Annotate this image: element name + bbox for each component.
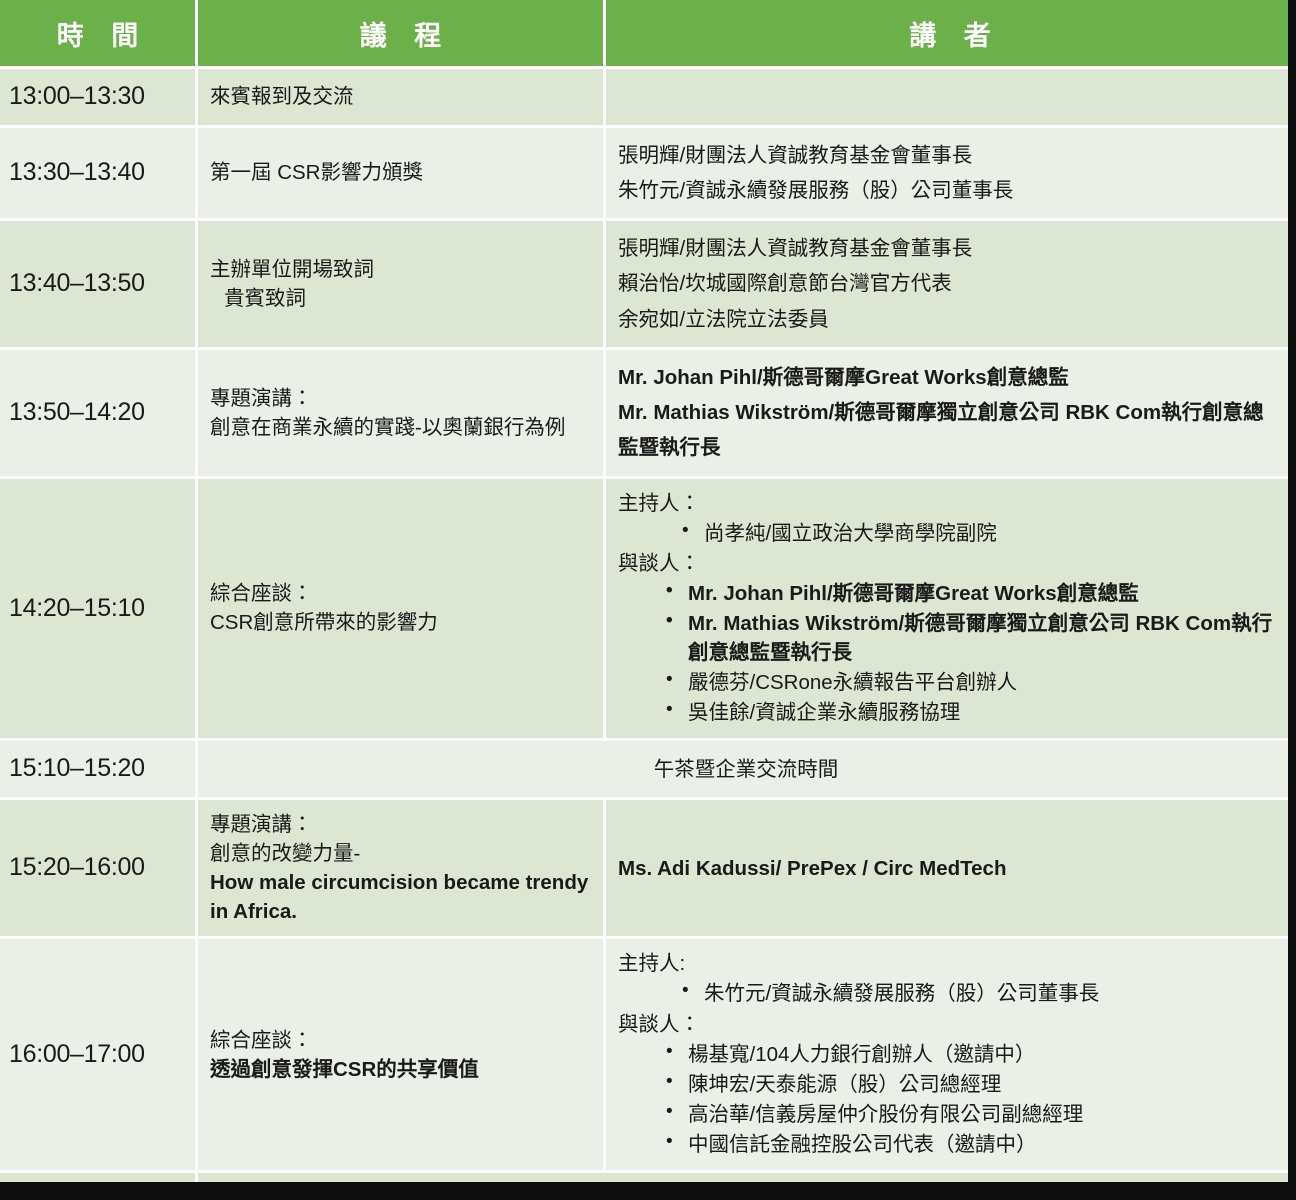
header-row: 時 間 議 程 講 者 <box>0 0 1294 66</box>
speaker-list: 朱竹元/資誠永續發展服務（股）公司董事長 <box>618 979 1284 1008</box>
speaker-list: 楊基寬/104人力銀行創辦人（邀請中） 陳坤宏/天泰能源（股）公司總經理 高治華… <box>618 1040 1284 1159</box>
agenda-line: How male circumcision became trendy in A… <box>210 868 593 926</box>
cell-speaker: Mr. Johan Pihl/斯德哥爾摩Great Works創意總監 Mr. … <box>606 350 1294 476</box>
cell-time: 16:00–17:00 <box>0 939 195 1170</box>
cell-agenda: 主辦單位開場致詞 貴賓致詞 <box>198 221 603 347</box>
cell-agenda: 來賓報到及交流 <box>198 69 603 125</box>
cell-time: 15:10–15:20 <box>0 741 195 797</box>
agenda-line: 透過創意發揮CSR的共享價值 <box>210 1055 593 1084</box>
cell-agenda: 專題演講： 創意的改變力量- How male circumcision bec… <box>198 800 603 936</box>
table-header: 時 間 議 程 講 者 <box>0 0 1294 66</box>
cell-speaker: 主持人: 朱竹元/資誠永續發展服務（股）公司董事長 與談人： 楊基寬/104人力… <box>606 939 1294 1170</box>
agenda-line: 來賓報到及交流 <box>210 82 593 111</box>
list-item: 陳坤宏/天泰能源（股）公司總經理 <box>666 1070 1284 1099</box>
agenda-line: 貴賓致詞 <box>210 284 593 313</box>
cell-time: 15:20–16:00 <box>0 800 195 936</box>
table-row: 15:20–16:00 專題演講： 創意的改變力量- How male circ… <box>0 800 1294 936</box>
cell-time: 13:40–13:50 <box>0 221 195 347</box>
agenda-line: 創意在商業永續的實踐-以奧蘭銀行為例 <box>210 413 593 442</box>
speaker-group-label: 主持人: <box>618 949 1284 978</box>
speaker-group-label: 與談人： <box>618 1010 1284 1039</box>
list-item: Mr. Mathias Wikström/斯德哥爾摩獨立創意公司 RBK Com… <box>666 609 1284 667</box>
agenda-line: 專題演講： <box>210 384 593 413</box>
speaker-line: 余宛如/立法院立法委員 <box>618 302 1284 337</box>
speaker-line: 賴治怡/坎城國際創意節台灣官方代表 <box>618 266 1284 301</box>
list-item: 朱竹元/資誠永續發展服務（股）公司董事長 <box>682 979 1284 1008</box>
table-row: 16:00–17:00 綜合座談： 透過創意發揮CSR的共享價值 主持人: 朱竹… <box>0 939 1294 1170</box>
cell-speaker: Ms. Adi Kadussi/ PrePex / Circ MedTech <box>606 800 1294 936</box>
cell-time: 14:20–15:10 <box>0 479 195 739</box>
cell-agenda: 綜合座談： CSR創意所帶來的影響力 <box>198 479 603 739</box>
list-item: 楊基寬/104人力銀行創辦人（邀請中） <box>666 1040 1284 1069</box>
speaker-line: Mr. Johan Pihl/斯德哥爾摩Great Works創意總監 <box>618 360 1284 395</box>
list-item: 吳佳餘/資誠企業永續服務協理 <box>666 698 1284 727</box>
cell-speaker <box>606 69 1294 125</box>
slide-right-edge <box>1288 0 1296 1184</box>
table-row: 15:10–15:20 午茶暨企業交流時間 <box>0 741 1294 797</box>
slide-bottom-edge <box>0 1182 1296 1200</box>
cell-agenda: 第一屆 CSR影響力頒獎 <box>198 128 603 219</box>
cell-speaker: 張明輝/財團法人資誠教育基金會董事長 賴治怡/坎城國際創意節台灣官方代表 余宛如… <box>606 221 1294 347</box>
cell-time: 13:50–14:20 <box>0 350 195 476</box>
speaker-list: Mr. Johan Pihl/斯德哥爾摩Great Works創意總監 Mr. … <box>618 579 1284 728</box>
column-header-time: 時 間 <box>0 0 195 66</box>
cell-time: 13:30–13:40 <box>0 128 195 219</box>
table-row: 13:00–13:30 來賓報到及交流 <box>0 69 1294 125</box>
list-item: 高治華/信義房屋仲介股份有限公司副總經理 <box>666 1100 1284 1129</box>
cell-time: 13:00–13:30 <box>0 69 195 125</box>
list-item: 尚孝純/國立政治大學商學院副院 <box>682 519 1284 548</box>
agenda-line: 綜合座談： <box>210 1026 593 1055</box>
table-row: 13:30–13:40 第一屆 CSR影響力頒獎 張明輝/財團法人資誠教育基金會… <box>0 128 1294 219</box>
agenda-line: 綜合座談： <box>210 579 593 608</box>
table-body: 13:00–13:30 來賓報到及交流 13:30–13:40 第一屆 CSR影… <box>0 69 1294 1200</box>
cell-agenda: 綜合座談： 透過創意發揮CSR的共享價值 <box>198 939 603 1170</box>
agenda-line: 專題演講： <box>210 810 593 839</box>
cell-full-span: 午茶暨企業交流時間 <box>198 741 1294 797</box>
cell-agenda: 專題演講： 創意在商業永續的實踐-以奧蘭銀行為例 <box>198 350 603 476</box>
agenda-line: 第一屆 CSR影響力頒獎 <box>210 158 593 187</box>
agenda-table: 時 間 議 程 講 者 13:00–13:30 來賓報到及交流 13:30–13… <box>0 0 1296 1200</box>
cell-speaker: 張明輝/財團法人資誠教育基金會董事長 朱竹元/資誠永續發展服務（股）公司董事長 <box>606 128 1294 219</box>
table-row: 14:20–15:10 綜合座談： CSR創意所帶來的影響力 主持人： 尚孝純/… <box>0 479 1294 739</box>
speaker-group-label: 主持人： <box>618 489 1284 518</box>
speaker-list: 尚孝純/國立政治大學商學院副院 <box>618 519 1284 548</box>
agenda-line: CSR創意所帶來的影響力 <box>210 608 593 637</box>
table-row: 13:40–13:50 主辦單位開場致詞 貴賓致詞 張明輝/財團法人資誠教育基金… <box>0 221 1294 347</box>
column-header-speaker: 講 者 <box>606 0 1294 66</box>
speaker-group-label: 與談人： <box>618 549 1284 578</box>
speaker-line: 張明輝/財團法人資誠教育基金會董事長 <box>618 138 1284 173</box>
speaker-line: 朱竹元/資誠永續發展服務（股）公司董事長 <box>618 173 1284 208</box>
table-row: 13:50–14:20 專題演講： 創意在商業永續的實踐-以奧蘭銀行為例 Mr.… <box>0 350 1294 476</box>
column-header-agenda: 議 程 <box>198 0 603 66</box>
speaker-line: 張明輝/財團法人資誠教育基金會董事長 <box>618 231 1284 266</box>
agenda-line: 主辦單位開場致詞 <box>210 255 593 284</box>
list-item: 嚴德芬/CSRone永續報告平台創辦人 <box>666 668 1284 697</box>
list-item: Mr. Johan Pihl/斯德哥爾摩Great Works創意總監 <box>666 579 1284 608</box>
cell-speaker: 主持人： 尚孝純/國立政治大學商學院副院 與談人： Mr. Johan Pihl… <box>606 479 1294 739</box>
agenda-slide: 時 間 議 程 講 者 13:00–13:30 來賓報到及交流 13:30–13… <box>0 0 1296 1200</box>
speaker-line: Mr. Mathias Wikström/斯德哥爾摩獨立創意公司 RBK Com… <box>618 395 1284 466</box>
agenda-line: 創意的改變力量- <box>210 839 593 868</box>
speaker-line: Ms. Adi Kadussi/ PrePex / Circ MedTech <box>618 854 1284 883</box>
list-item: 中國信託金融控股公司代表（邀請中） <box>666 1130 1284 1159</box>
